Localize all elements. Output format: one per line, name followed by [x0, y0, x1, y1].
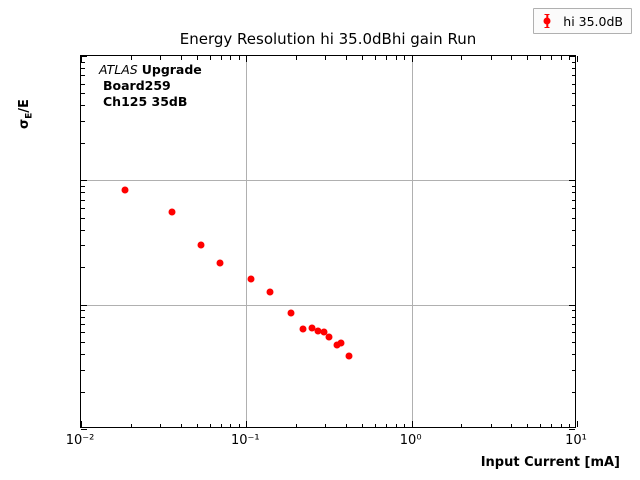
x-tick — [577, 421, 578, 427]
data-point — [338, 340, 345, 347]
x-tick — [386, 56, 387, 60]
y-tick — [572, 105, 576, 106]
y-tick — [572, 354, 576, 355]
y-tick — [572, 84, 576, 85]
x-tick — [239, 424, 240, 428]
y-gridline — [81, 180, 575, 181]
data-point — [325, 333, 332, 340]
data-point — [266, 289, 273, 296]
y-tick — [81, 324, 85, 325]
y-tick — [572, 342, 576, 343]
y-tick — [572, 370, 576, 371]
x-tick — [375, 56, 376, 60]
x-tick — [362, 56, 363, 60]
y-tick — [81, 200, 85, 201]
x-tick — [491, 56, 492, 60]
x-tick-label: 10⁻¹ — [231, 433, 260, 448]
x-tick — [412, 421, 413, 427]
x-tick — [230, 56, 231, 60]
y-tick — [572, 392, 576, 393]
y-tick — [81, 93, 85, 94]
y-tick — [572, 186, 576, 187]
y-tick — [572, 230, 576, 231]
x-tick — [221, 424, 222, 428]
annotation-block: ATLAS Upgrade Board259 Ch125 35dB — [99, 62, 202, 110]
x-gridline — [246, 56, 247, 427]
x-tick — [551, 424, 552, 428]
y-tick — [569, 180, 575, 181]
x-tick — [396, 56, 397, 60]
x-tick — [181, 424, 182, 428]
data-point — [197, 242, 204, 249]
data-point — [247, 275, 254, 282]
y-tick — [569, 56, 575, 57]
x-tick-label: 10⁻² — [66, 433, 95, 448]
x-tick — [540, 424, 541, 428]
y-axis-label-sigma: σ — [17, 119, 32, 129]
y-tick — [81, 75, 85, 76]
x-axis-label: Input Current [mA] — [0, 455, 620, 470]
y-tick — [572, 200, 576, 201]
x-tick — [325, 424, 326, 428]
y-tick — [81, 354, 85, 355]
legend-label-hi-35db: hi 35.0dB — [563, 14, 623, 29]
y-tick — [572, 324, 576, 325]
x-tick — [246, 56, 247, 62]
x-tick — [511, 56, 512, 60]
y-tick — [81, 310, 85, 311]
y-tick — [81, 370, 85, 371]
x-tick — [210, 424, 211, 428]
data-point — [299, 325, 306, 332]
x-tick — [561, 56, 562, 60]
x-tick — [230, 424, 231, 428]
x-tick — [569, 424, 570, 428]
y-tick — [81, 105, 85, 106]
x-tick — [160, 56, 161, 60]
x-tick — [197, 424, 198, 428]
data-point — [216, 259, 223, 266]
x-tick — [296, 56, 297, 60]
plot-area — [80, 55, 576, 428]
y-gridline — [81, 305, 575, 306]
x-gridline — [412, 56, 413, 427]
annotation-atlas-upgrade: ATLAS Upgrade — [99, 62, 202, 78]
x-tick — [375, 424, 376, 428]
data-point — [122, 186, 129, 193]
annotation-channel: Ch125 35dB — [99, 94, 202, 110]
atlas-text: ATLAS — [99, 62, 138, 77]
annotation-board: Board259 — [99, 78, 202, 94]
y-tick — [572, 245, 576, 246]
x-tick — [461, 424, 462, 428]
y-tick — [81, 230, 85, 231]
y-tick — [572, 218, 576, 219]
x-tick — [81, 421, 82, 427]
y-axis-label-rest: /E — [17, 99, 32, 113]
y-tick — [572, 208, 576, 209]
y-tick — [81, 192, 85, 193]
x-tick — [404, 56, 405, 60]
legend[interactable]: hi 35.0dB — [533, 8, 632, 34]
x-tick — [246, 421, 247, 427]
y-axis-label-sub: E — [25, 113, 35, 119]
x-tick — [197, 56, 198, 60]
x-tick — [561, 424, 562, 428]
x-tick — [491, 424, 492, 428]
y-tick — [81, 305, 87, 306]
x-tick — [181, 56, 182, 60]
x-tick — [396, 424, 397, 428]
x-tick — [239, 56, 240, 60]
y-tick — [81, 186, 85, 187]
x-tick — [461, 56, 462, 60]
y-tick — [572, 121, 576, 122]
y-tick — [572, 62, 576, 63]
x-tick — [540, 56, 541, 60]
y-tick — [572, 267, 576, 268]
y-tick — [81, 84, 85, 85]
upgrade-text: Upgrade — [142, 62, 202, 77]
y-tick — [81, 392, 85, 393]
y-tick — [81, 267, 85, 268]
x-tick — [221, 56, 222, 60]
x-tick — [160, 424, 161, 428]
y-tick — [572, 317, 576, 318]
y-tick — [81, 342, 85, 343]
page-title: Energy Resolution hi 35.0dBhi gain Run — [80, 30, 576, 48]
y-tick — [81, 245, 85, 246]
data-point — [346, 353, 353, 360]
y-tick — [572, 332, 576, 333]
y-tick — [569, 305, 575, 306]
y-tick — [81, 218, 85, 219]
figure-canvas: Energy Resolution hi 35.0dBhi gain Run σ… — [0, 0, 640, 480]
y-tick — [572, 310, 576, 311]
y-tick — [81, 56, 87, 57]
y-tick — [81, 429, 87, 430]
x-tick — [362, 424, 363, 428]
data-point — [288, 309, 295, 316]
y-tick — [81, 317, 85, 318]
x-tick — [577, 56, 578, 62]
y-tick — [572, 93, 576, 94]
data-point — [168, 209, 175, 216]
x-tick — [551, 56, 552, 60]
x-tick — [325, 56, 326, 60]
x-tick — [527, 56, 528, 60]
x-tick-label: 10¹ — [565, 433, 587, 448]
y-tick — [81, 208, 85, 209]
x-tick — [412, 56, 413, 62]
x-tick — [131, 56, 132, 60]
y-axis-label: σE/E — [9, 55, 47, 428]
x-tick — [346, 56, 347, 60]
y-tick — [572, 192, 576, 193]
x-tick — [404, 424, 405, 428]
y-tick — [81, 143, 85, 144]
y-tick — [572, 75, 576, 76]
x-tick — [511, 424, 512, 428]
y-tick — [81, 62, 85, 63]
x-tick — [131, 424, 132, 428]
x-tick — [527, 424, 528, 428]
y-tick — [572, 143, 576, 144]
y-tick — [569, 429, 575, 430]
y-tick — [81, 121, 85, 122]
x-tick — [296, 424, 297, 428]
legend-errorbar-marker-icon — [540, 13, 554, 29]
x-tick-label: 10⁰ — [400, 433, 422, 448]
y-tick — [81, 180, 87, 181]
x-tick — [386, 424, 387, 428]
x-tick — [210, 56, 211, 60]
y-tick — [81, 68, 85, 69]
x-tick — [346, 424, 347, 428]
y-tick — [572, 68, 576, 69]
y-tick — [81, 332, 85, 333]
